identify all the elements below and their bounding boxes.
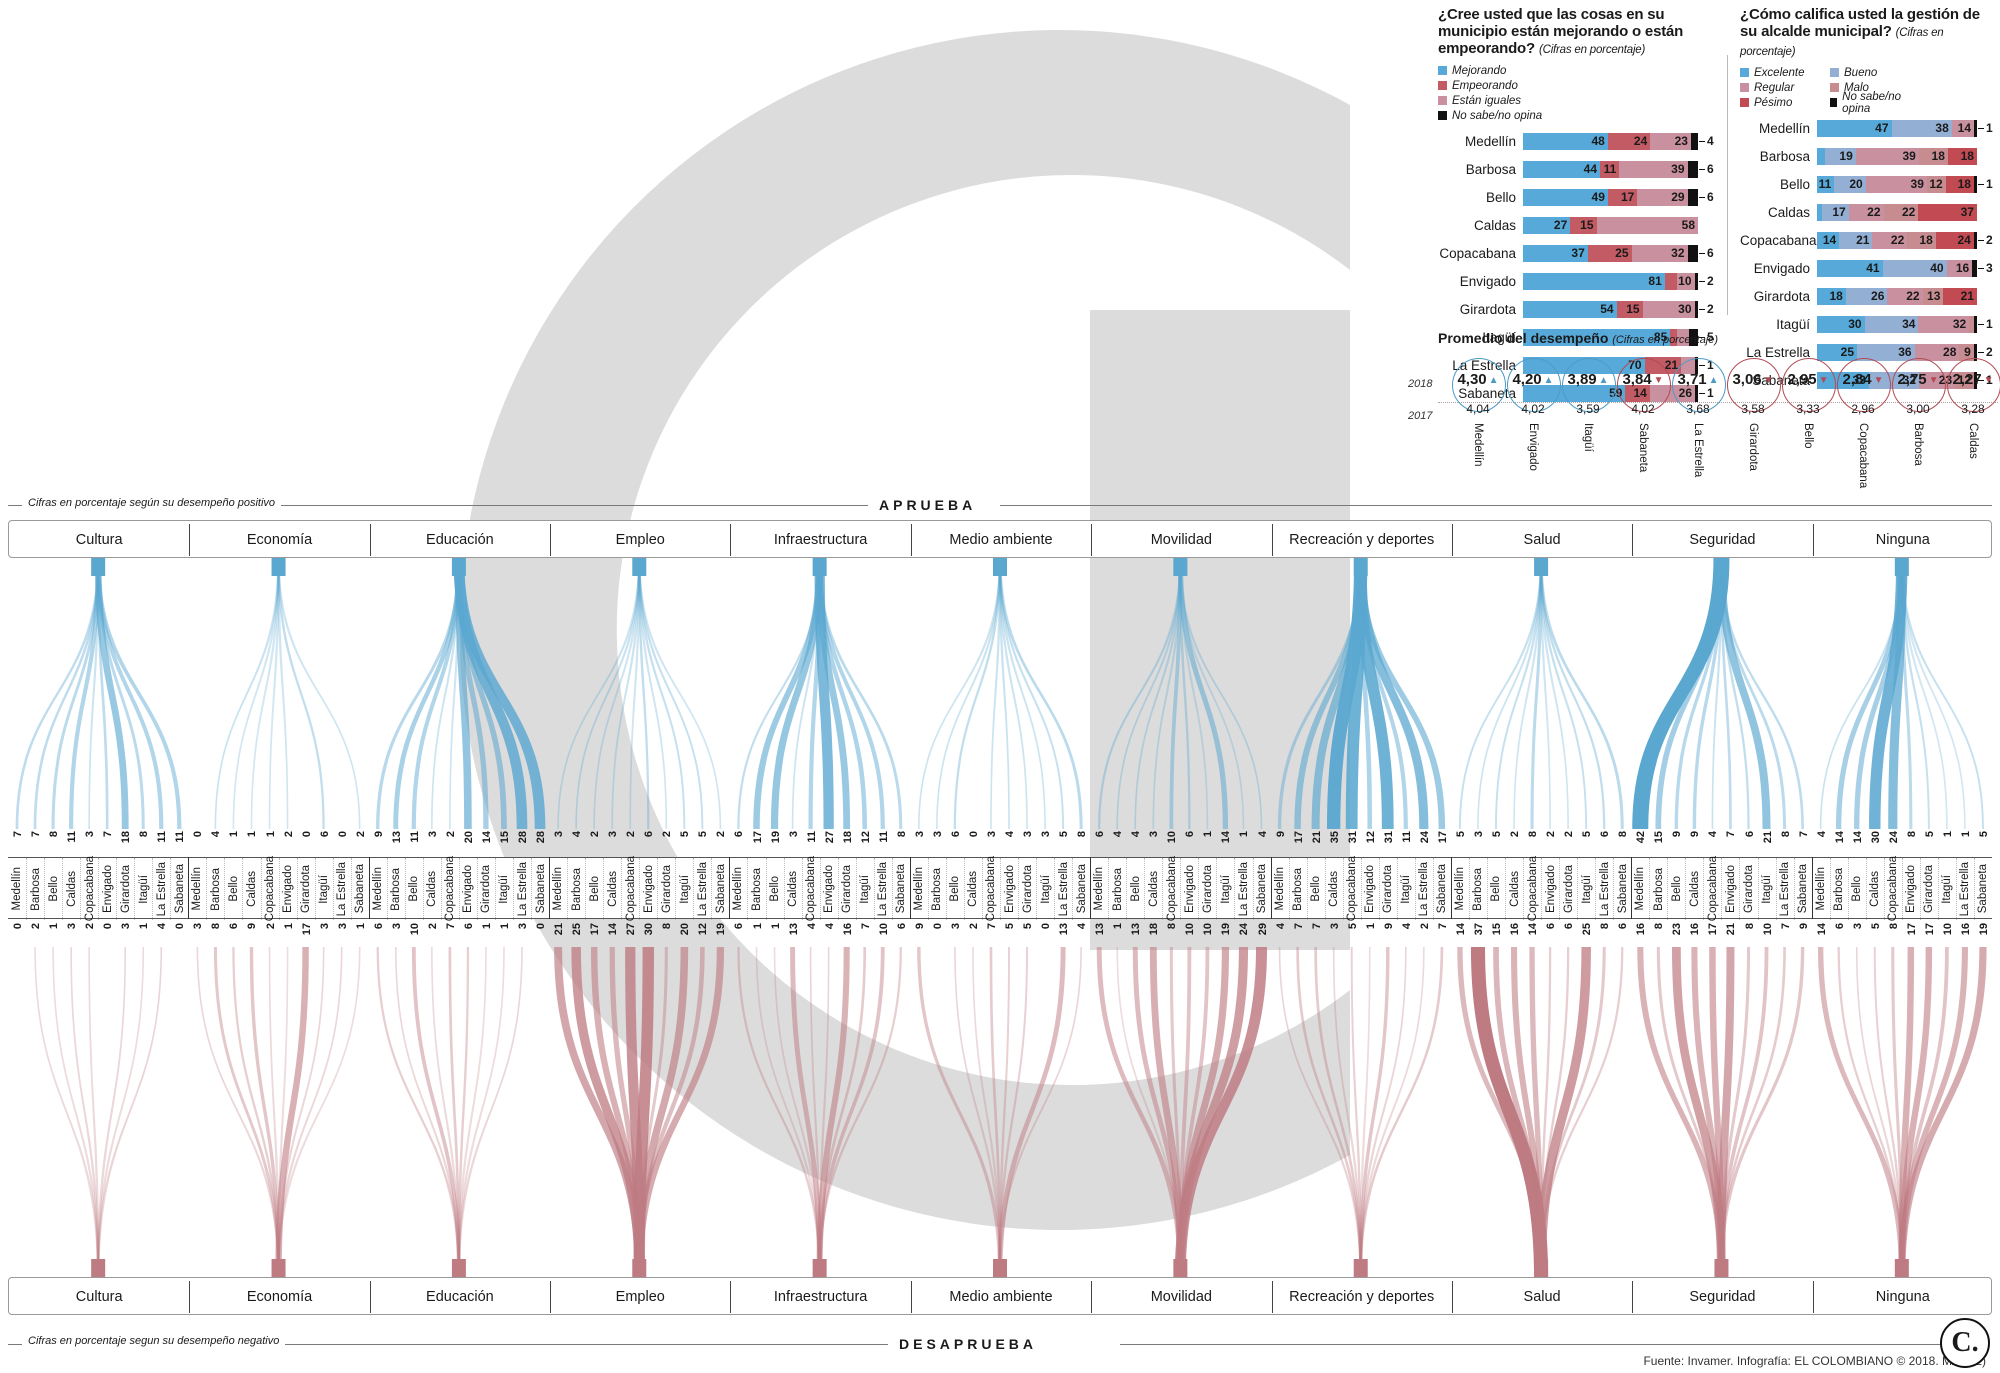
- disapprove-value: 37: [1473, 923, 1485, 935]
- disapprove-value: 8: [1599, 923, 1611, 929]
- disapprove-value: 20: [679, 923, 691, 935]
- approve-value: 11: [1401, 831, 1413, 843]
- approve-value: 5: [1924, 831, 1936, 837]
- legend-swatch: [1740, 68, 1749, 77]
- legend-item: Están iguales: [1438, 93, 1578, 108]
- approve-value: 11: [66, 831, 78, 843]
- category-separator: [550, 1281, 551, 1313]
- disapprove-value: 0: [12, 923, 24, 929]
- disapprove-value: 9: [246, 923, 258, 929]
- disapprove-value: 7: [1780, 923, 1792, 929]
- bar-segment: 39: [1856, 148, 1919, 165]
- approve-value: 18: [842, 831, 854, 843]
- approve-value: 13: [391, 831, 403, 843]
- approve-value: 3: [84, 831, 96, 837]
- approve-value: 3: [1022, 831, 1034, 837]
- approve-value: 3: [932, 831, 944, 837]
- approve-value: 6: [643, 831, 655, 837]
- category-label: Salud: [1452, 1278, 1632, 1316]
- table-row: Bello4917296: [1438, 186, 1723, 208]
- value-2018: 3,89▲: [1560, 352, 1616, 388]
- main-chart: APRUEBA Cifras en porcentaje según su de…: [0, 497, 2000, 1347]
- disapprove-value: 25: [571, 923, 583, 935]
- approve-value: 0: [337, 831, 349, 837]
- bar-segment: 21: [1943, 288, 1977, 305]
- table-row: Caldas271558: [1438, 214, 1723, 236]
- disapprove-value: 3: [337, 923, 349, 929]
- value-2018: 2,95▼: [1780, 352, 1836, 388]
- bar-segment: [1695, 301, 1698, 318]
- approve-value: 24: [1419, 831, 1431, 843]
- disapprove-value: 2: [84, 923, 96, 929]
- category-separator: [911, 1281, 912, 1313]
- row-label: Envigado: [1740, 261, 1817, 276]
- row-label: Envigado: [1438, 274, 1523, 289]
- disapprove-value: 14: [1455, 923, 1467, 935]
- tail-value: 4: [1707, 134, 1714, 148]
- promedio-municipality: Barbosa: [1912, 423, 1924, 466]
- bar-segment: [1974, 120, 1977, 137]
- disapprove-value: 6: [373, 923, 385, 929]
- source-text: Fuente: Invamer. Infografía: EL COLOMBIA…: [1643, 1354, 1986, 1368]
- legend-label: Mejorando: [1452, 65, 1506, 77]
- promedio-title: Promedio del desempeño (Cifras en porcen…: [1438, 330, 1998, 346]
- axis-group-separator: [369, 857, 370, 919]
- disapprove-value: 1: [48, 923, 60, 929]
- approve-value: 6: [319, 831, 331, 837]
- promedio-item: 2,75▼3,00Barbosa: [1890, 352, 1946, 471]
- disapprove-value: 17: [1924, 923, 1936, 935]
- category-label: Movilidad: [1091, 1278, 1271, 1316]
- approve-value: 7: [12, 831, 24, 837]
- disapprove-value: 17: [589, 923, 601, 935]
- promedio-municipality: Medellín: [1472, 423, 1484, 466]
- tail-value: 2: [1707, 274, 1714, 288]
- approve-value: 4: [1816, 831, 1828, 837]
- bar-segment: 29: [1637, 189, 1687, 206]
- approve-value: 19: [770, 831, 782, 843]
- legend-item: Mejorando: [1438, 63, 1578, 78]
- approve-value: 5: [1978, 831, 1990, 837]
- bar-segment: 18: [1919, 148, 1948, 165]
- axis-group-separator: [1631, 857, 1632, 919]
- approve-value: 5: [1581, 831, 1593, 837]
- approve-value: 2: [1563, 831, 1575, 837]
- disapprove-value: 3: [391, 923, 403, 929]
- promedio-item: 3,89▲3,59Itagüí: [1560, 352, 1616, 457]
- disapprove-value: 19: [715, 923, 727, 935]
- tail-value: 2: [1707, 302, 1714, 316]
- value-2017: 2,96: [1835, 388, 1891, 416]
- axis-group-separator: [1271, 857, 1272, 919]
- row-label: Bello: [1740, 177, 1817, 192]
- approve-value: 3: [788, 831, 800, 837]
- stacked-bar: 491729: [1523, 189, 1698, 206]
- disapprove-value: 6: [733, 923, 745, 929]
- bar-segment: 81: [1523, 273, 1665, 290]
- stacked-bar: 8110: [1523, 273, 1698, 290]
- row-label: Caldas: [1740, 205, 1817, 220]
- disapprove-value: 7: [445, 923, 457, 929]
- approve-value: 0: [968, 831, 980, 837]
- value-labels: 7072811133270183811141100348161912210176…: [0, 497, 2000, 1347]
- bar-segment: 58: [1597, 217, 1699, 234]
- trend-down-icon: ▼: [1819, 375, 1829, 386]
- bar-segment: 18: [1907, 232, 1936, 249]
- disapprove-value: 15: [1491, 923, 1503, 935]
- promedio-municipality: La Estrella: [1692, 423, 1704, 477]
- stacked-bar: 414016: [1817, 260, 1977, 277]
- bar-segment: 37: [1918, 204, 1977, 221]
- value-2018: 2,75▼: [1890, 352, 1946, 388]
- approve-value: 4: [210, 831, 222, 837]
- approve-value: 15: [499, 831, 511, 843]
- approve-value: 3: [427, 831, 439, 837]
- bar-segment: 14: [1952, 120, 1974, 137]
- disapprove-value: 12: [697, 923, 709, 935]
- approve-value: 2: [283, 831, 295, 837]
- stacked-bar: 1421221824: [1817, 232, 1977, 249]
- disapprove-value: 4: [806, 923, 818, 929]
- category-separator: [1091, 1281, 1092, 1313]
- promedio-item: 4,20▲4,02Envigado: [1505, 352, 1561, 476]
- approve-value: 1: [265, 831, 277, 837]
- approve-value: 0: [301, 831, 313, 837]
- approve-value: 1: [1942, 831, 1954, 837]
- disapprove-value: 16: [1689, 923, 1701, 935]
- bar-segment: 24: [1608, 133, 1650, 150]
- promedio-item: 3,06▼3,58Girardota: [1725, 352, 1781, 476]
- legend-label: Bueno: [1844, 67, 1877, 79]
- bar-segment: 15: [1617, 301, 1643, 318]
- bar-segment: 26: [1846, 288, 1888, 305]
- approve-value: 3: [607, 831, 619, 837]
- value-2017: 4,04: [1450, 388, 1506, 416]
- approve-value: 21: [1311, 831, 1323, 843]
- approve-value: 42: [1635, 831, 1647, 843]
- bar-segment: 48: [1523, 133, 1608, 150]
- disapprove-value: 14: [1816, 923, 1828, 935]
- table-row: Caldas17222237: [1740, 201, 1998, 223]
- approve-value: 2: [625, 831, 637, 837]
- disapprove-value: 23: [1671, 923, 1683, 935]
- disapprove-value: 4: [156, 923, 168, 929]
- bar-segment: 22: [1884, 204, 1919, 221]
- legend-label: No sabe/no opina: [1842, 91, 1914, 115]
- approve-value: 5: [1058, 831, 1070, 837]
- bar-segment: 10: [1677, 273, 1695, 290]
- disapprove-value: 7: [986, 923, 998, 929]
- table-row: Copacabana3725326: [1438, 242, 1723, 264]
- promedio-item: 2,27▼3,28Caldas: [1945, 352, 2000, 464]
- elcolombiano-logo: C.: [1940, 1318, 1990, 1368]
- bar-segment: 18: [1946, 176, 1974, 193]
- approve-value: 7: [1725, 831, 1737, 837]
- promedio-municipality: Sabaneta: [1637, 423, 1649, 472]
- bar-segment: 32: [1632, 245, 1688, 262]
- tail-value: 3: [1986, 261, 1993, 275]
- approve-value: 4: [1257, 831, 1269, 837]
- bar-segment: [1688, 245, 1699, 262]
- disapprove-value: 30: [643, 923, 655, 935]
- approve-value: 21: [1762, 831, 1774, 843]
- bar-segment: 22: [1849, 204, 1884, 221]
- stacked-bar: 1120391218: [1817, 176, 1977, 193]
- approve-value: 8: [138, 831, 150, 837]
- disapprove-value: 17: [1707, 923, 1719, 935]
- trend-up-icon: ▲: [1709, 375, 1719, 386]
- axis-group-separator: [1451, 857, 1452, 919]
- stacked-bar: 17222237: [1817, 204, 1977, 221]
- disapprove-value: 16: [1960, 923, 1972, 935]
- disapprove-value: 1: [770, 923, 782, 929]
- trend-up-icon: ▲: [1489, 375, 1499, 386]
- approve-value: 2: [661, 831, 673, 837]
- value-2018: 4,30▲: [1450, 352, 1506, 388]
- disapprove-value: 9: [914, 923, 926, 929]
- axis-group-separator: [1812, 857, 1813, 919]
- approve-value: 0: [192, 831, 204, 837]
- bar-segment: 18: [1948, 148, 1977, 165]
- category-separator: [730, 1281, 731, 1313]
- legend-swatch: [1830, 83, 1839, 92]
- approve-value: 3: [914, 831, 926, 837]
- disapprove-value: 10: [1202, 923, 1214, 935]
- category-label: Cultura: [9, 1278, 189, 1316]
- bar-segment: 19: [1825, 148, 1856, 165]
- table-row: Medellín4738141: [1740, 117, 1998, 139]
- disapprove-value: 2: [265, 923, 277, 929]
- disapprove-value: 8: [210, 923, 222, 929]
- disapprove-value: 13: [1058, 923, 1070, 935]
- disapprove-value: 9: [1798, 923, 1810, 929]
- bar-segment: 17: [1822, 204, 1849, 221]
- approve-value: 2: [445, 831, 457, 837]
- bar-segment: 25: [1588, 245, 1632, 262]
- disapprove-value: 10: [1762, 923, 1774, 935]
- bar-segment: 15: [1570, 217, 1596, 234]
- bar-segment: [1974, 176, 1977, 193]
- approve-value: 28: [517, 831, 529, 843]
- axis-group-separator: [910, 857, 911, 919]
- approve-value: 4: [1130, 831, 1142, 837]
- disapprove-value: 5: [1022, 923, 1034, 929]
- approve-value: 6: [733, 831, 745, 837]
- bar-segment: 39: [1619, 161, 1687, 178]
- tail-value: 1: [1986, 317, 1993, 331]
- disapprove-value: 6: [463, 923, 475, 929]
- value-2018: 3,71▲: [1670, 352, 1726, 388]
- trend-down-icon: ▼: [1764, 375, 1774, 386]
- promedio-municipality: Copacabana: [1857, 423, 1869, 488]
- footer-rule-right: [1120, 1344, 1956, 1345]
- axis-group-separator: [729, 857, 730, 919]
- approve-value: 30: [1870, 831, 1882, 843]
- value-2018: 3,06▼: [1725, 352, 1781, 388]
- bar-segment: [1665, 273, 1677, 290]
- bar-segment: 20: [1834, 176, 1865, 193]
- disapprove-value: 8: [1888, 923, 1900, 929]
- trend-down-icon: ▼: [1874, 375, 1884, 386]
- disapprove-value: 1: [138, 923, 150, 929]
- disapprove-value: 13: [1094, 923, 1106, 935]
- approve-value: 5: [1455, 831, 1467, 837]
- category-separator: [1813, 1281, 1814, 1313]
- legend-item: Empeorando: [1438, 78, 1578, 93]
- tail-value: 2: [1986, 233, 1993, 247]
- approve-value: 2: [715, 831, 727, 837]
- disapprove-value: 1: [1365, 923, 1377, 929]
- value-2018: 3,84▼: [1615, 352, 1671, 388]
- value-2017: 4,02: [1615, 388, 1671, 416]
- disapprove-value: 16: [1509, 923, 1521, 935]
- row-label: Barbosa: [1740, 149, 1817, 164]
- year-2017-label: 2017: [1408, 410, 1432, 422]
- table-row: Envigado4140163: [1740, 257, 1998, 279]
- table-row: Copacabana14212218242: [1740, 229, 1998, 251]
- bar-segment: 14: [1817, 232, 1839, 249]
- table-row: Medellín4824234: [1438, 130, 1723, 152]
- approve-value: 35: [1329, 831, 1341, 843]
- approve-value: 11: [174, 831, 186, 843]
- disapprove-value: 19: [1220, 923, 1232, 935]
- disapprove-value: 1: [355, 923, 367, 929]
- disapprove-value: 24: [1238, 923, 1250, 935]
- disapprove-value: 6: [228, 923, 240, 929]
- approve-value: 6: [1184, 831, 1196, 837]
- legend-label: No sabe/no opina: [1452, 110, 1542, 122]
- bar-segment: [1972, 260, 1977, 277]
- tail-value: 1: [1986, 177, 1993, 191]
- value-2017: 4,02: [1505, 388, 1561, 416]
- stacked-bar: 1826221321: [1817, 288, 1977, 305]
- bar-segment: 39: [1866, 176, 1927, 193]
- category-label: Infraestructura: [730, 1278, 910, 1316]
- stacked-bar: 482423: [1523, 133, 1698, 150]
- approve-value: 12: [1365, 831, 1377, 843]
- approve-value: 5: [1491, 831, 1503, 837]
- disapprove-value: 4: [1401, 923, 1413, 929]
- disapprove-value: 21: [1725, 923, 1737, 935]
- bottom-caption: Cifras en porcentaje segun su desempeño …: [22, 1335, 285, 1347]
- row-label: Caldas: [1438, 218, 1523, 233]
- disapprove-value: 4: [824, 923, 836, 929]
- legend-item: Excelente: [1740, 65, 1824, 80]
- disapprove-value: 7: [1437, 923, 1449, 929]
- bar-segment: [1688, 161, 1699, 178]
- disapprove-value: 10: [878, 923, 890, 935]
- approve-value: 8: [1906, 831, 1918, 837]
- bar-segment: 37: [1523, 245, 1588, 262]
- bar-segment: 18: [1817, 288, 1846, 305]
- bar-segment: 21: [1839, 232, 1872, 249]
- category-separator: [370, 1281, 371, 1313]
- legend-label: Empeorando: [1452, 80, 1518, 92]
- tail-value: 6: [1707, 162, 1714, 176]
- disapprove-value: 5: [1870, 923, 1882, 929]
- category-separator: [1272, 1281, 1273, 1313]
- disapprove-value: 3: [517, 923, 529, 929]
- category-label: Seguridad: [1632, 1278, 1812, 1316]
- disapprove-value: 2: [968, 923, 980, 929]
- disapprove-value: 9: [1383, 923, 1395, 929]
- q2-title: ¿Cómo califica usted la gestión de su al…: [1740, 6, 1998, 61]
- disapprove-value: 10: [1184, 923, 1196, 935]
- axis-group-separator: [1090, 857, 1091, 919]
- trend-down-icon: ▼: [1929, 375, 1939, 386]
- disapprove-value: 4: [1275, 923, 1287, 929]
- approve-value: 11: [156, 831, 168, 843]
- promedio-municipality: Caldas: [1967, 423, 1979, 459]
- disapprove-value: 3: [66, 923, 78, 929]
- table-row: Barbosa4411396: [1438, 158, 1723, 180]
- approve-value: 17: [1437, 831, 1449, 843]
- approve-value: 5: [697, 831, 709, 837]
- legend-swatch: [1740, 98, 1749, 107]
- category-separator: [189, 1281, 190, 1313]
- approve-value: 1: [246, 831, 258, 837]
- row-label: Medellín: [1740, 121, 1817, 136]
- approve-value: 6: [1599, 831, 1611, 837]
- legend-item: No sabe/no opina: [1830, 95, 1914, 110]
- bar-segment: 22: [1872, 232, 1907, 249]
- disapprove-value: 6: [1834, 923, 1846, 929]
- bar-segment: 27: [1523, 217, 1570, 234]
- value-2017: 3,58: [1725, 388, 1781, 416]
- row-label: Girardota: [1740, 289, 1817, 304]
- disapprove-value: 16: [1635, 923, 1647, 935]
- bar-segment: 17: [1608, 189, 1637, 206]
- disapprove-value: 3: [120, 923, 132, 929]
- category-label: Economía: [189, 1278, 369, 1316]
- approve-value: 1: [1238, 831, 1250, 837]
- approve-value: 3: [1473, 831, 1485, 837]
- row-label: Medellín: [1438, 134, 1523, 149]
- approve-value: 1: [1202, 831, 1214, 837]
- promedio-panel: Promedio del desempeño (Cifras en porcen…: [1438, 330, 1998, 452]
- approve-value: 18: [120, 831, 132, 843]
- bar-segment: 49: [1523, 189, 1608, 206]
- bar-segment: 11: [1600, 161, 1619, 178]
- category-bar-bottom: CulturaEconomíaEducaciónEmpleoInfraestru…: [8, 1277, 1992, 1315]
- legend-item: No sabe/no opina: [1438, 108, 1578, 123]
- promedio-municipality: Envigado: [1527, 423, 1539, 471]
- category-label: Recreación y deportes: [1272, 1278, 1452, 1316]
- category-label: Educación: [370, 1278, 550, 1316]
- table-row: Girardota5415302: [1438, 298, 1723, 320]
- bar-segment: 44: [1523, 161, 1600, 178]
- value-2018: 4,20▲: [1505, 352, 1561, 388]
- bar-segment: 11: [1817, 176, 1834, 193]
- legend-swatch: [1740, 83, 1749, 92]
- table-row: Bello11203912181: [1740, 173, 1998, 195]
- year-2018-label: 2018: [1408, 378, 1432, 390]
- approve-value: 14: [1220, 831, 1232, 843]
- legend-swatch: [1438, 66, 1447, 75]
- stacked-bar: 19391818: [1817, 148, 1977, 165]
- bar-segment: 41: [1817, 260, 1883, 277]
- disapprove-value: 0: [932, 923, 944, 929]
- approve-value: 14: [1834, 831, 1846, 843]
- bar-segment: [1688, 189, 1698, 206]
- approve-value: 9: [1671, 831, 1683, 837]
- bar-segment: 13: [1923, 288, 1944, 305]
- approve-value: 8: [1527, 831, 1539, 837]
- bar-segment: [1691, 133, 1698, 150]
- disapprove-value: 4: [1076, 923, 1088, 929]
- legend-label: Excelente: [1754, 67, 1805, 79]
- disapprove-value: 29: [1257, 923, 1269, 935]
